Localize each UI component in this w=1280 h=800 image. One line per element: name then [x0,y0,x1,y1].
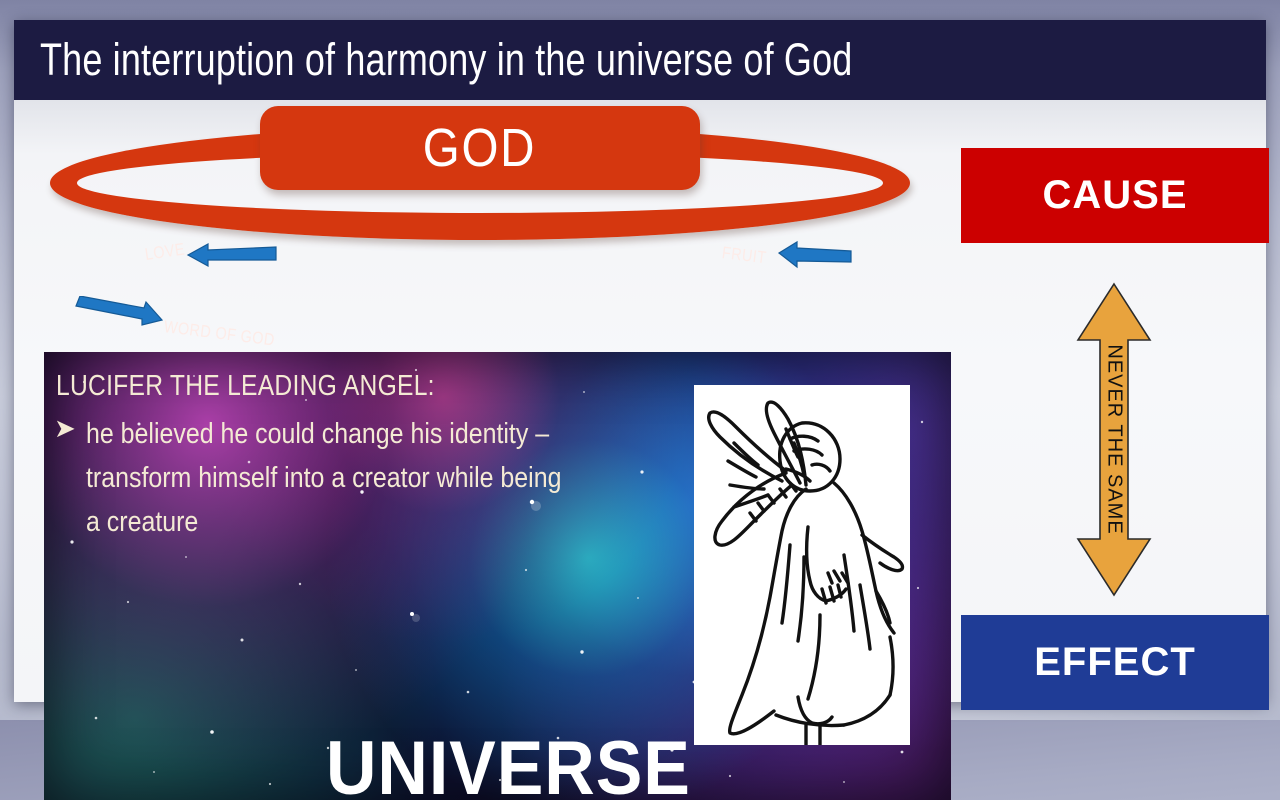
bullet-arrow-icon: ➤ [54,412,76,544]
arrow-left-icon-fruit [775,239,855,269]
slide-title-bar: The interruption of harmony in the unive… [14,20,1266,100]
never-the-same-double-arrow-icon [1074,282,1154,597]
page-title: The interruption of harmony in the unive… [40,34,852,86]
cause-label: CAUSE [1042,173,1187,218]
god-center-box: GOD [260,106,700,190]
ring-label-fruit: FRUIT [721,243,768,268]
universe-nebula-panel: LUCIFER THE LEADING ANGEL: ➤ he believed… [44,352,951,800]
universe-caption: UNIVERSE [326,725,691,800]
slide-body: GOD LOVE FRUIT WORD OF GOD [14,100,1266,702]
effect-box: EFFECT [961,615,1269,710]
god-ring-diagram: GOD LOVE FRUIT WORD OF GOD [14,100,944,265]
arrow-left-icon-love [184,240,280,270]
lucifer-bullet-item: ➤ he believed he could change his identi… [54,412,654,544]
angel-line-drawing-icon [694,385,910,745]
angel-image [694,385,910,745]
arrow-right-icon-word-of-god [72,296,166,328]
ring-label-word-of-god: WORD OF GOD [163,317,276,350]
effect-label: EFFECT [1034,640,1196,685]
cause-box: CAUSE [961,148,1269,243]
lucifer-heading: LUCIFER THE LEADING ANGEL: [56,370,435,403]
lucifer-bullet-text: he believed he could change his identity… [86,412,575,544]
god-label: GOD [423,117,537,179]
presentation-slide: The interruption of harmony in the unive… [14,20,1266,702]
ring-label-love: LOVE [144,239,187,264]
